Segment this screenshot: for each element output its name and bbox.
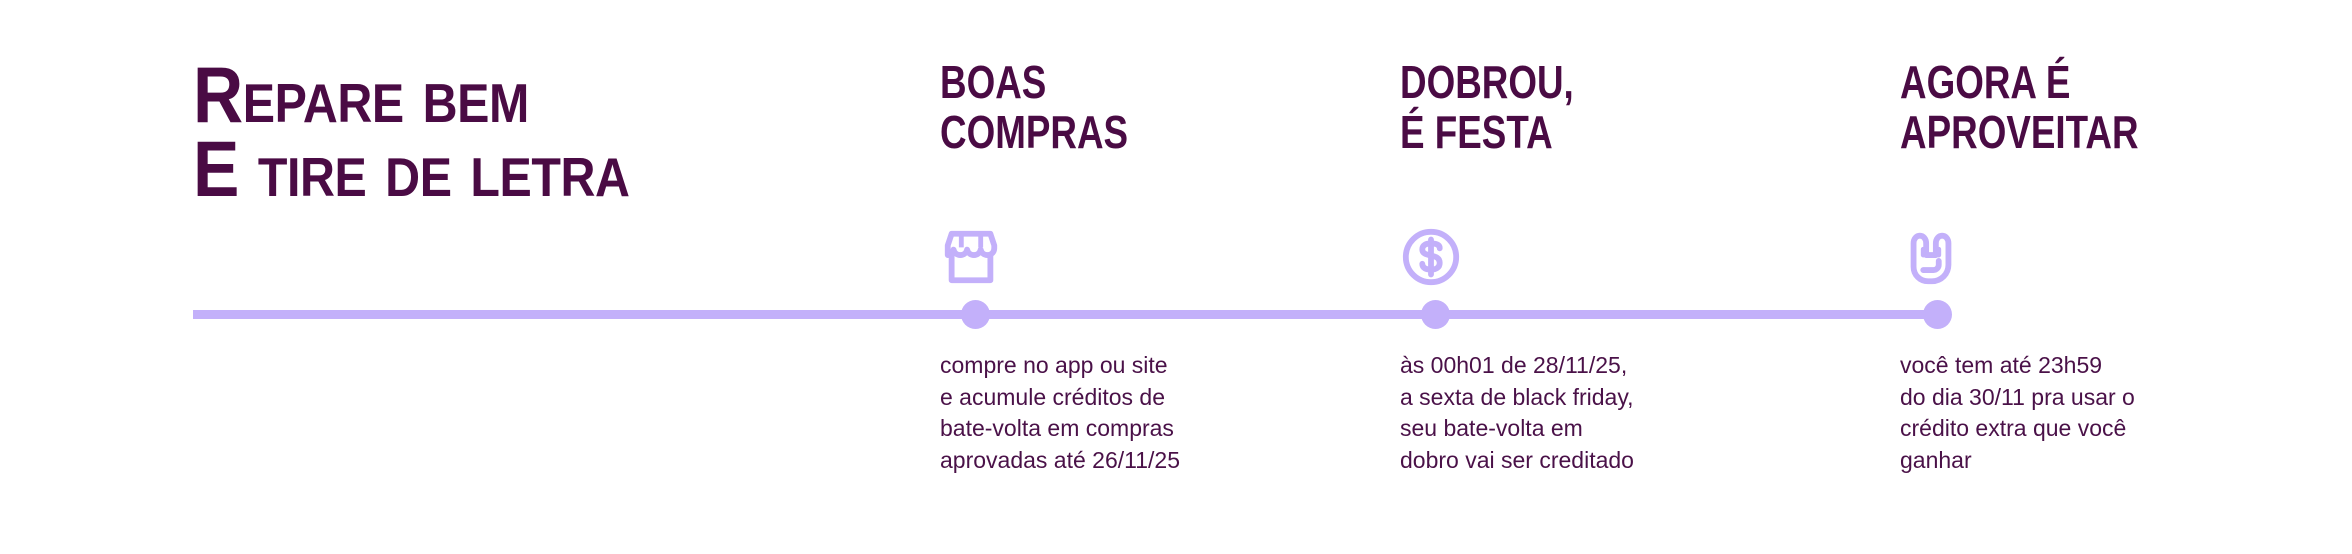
storefront-icon	[940, 226, 1002, 288]
headline-line-2: e Tire de Letra	[193, 132, 630, 206]
timeline-step-2-title: DOBROU, É FESTA	[1400, 58, 1736, 157]
timeline-step-3: AGORA É APROVEITAR	[1900, 58, 2320, 157]
timeline-dot-3	[1923, 300, 1952, 329]
rock-hand-icon	[1900, 226, 1962, 288]
timeline-step-2: DOBROU, É FESTA	[1400, 58, 1820, 157]
timeline-dot-1	[961, 300, 990, 329]
timeline-step-2-body: às 00h01 de 28/11/25, a sexta de black f…	[1400, 350, 1700, 477]
timeline-step-1: BOAS COMPRAS	[940, 58, 1360, 157]
promo-timeline-banner: Repare Bem e Tire de Letra BOAS COMPRAS …	[0, 0, 2352, 554]
timeline-step-3-body: você tem até 23h59 do dia 30/11 pra usar…	[1900, 350, 2200, 477]
timeline-step-1-title: BOAS COMPRAS	[940, 58, 1276, 157]
timeline-step-3-title: AGORA É APROVEITAR	[1900, 58, 2236, 157]
timeline-rail	[193, 310, 1938, 319]
dollar-circle-icon	[1400, 226, 1462, 288]
timeline-dot-2	[1421, 300, 1450, 329]
page-title: Repare Bem e Tire de Letra	[193, 58, 630, 207]
timeline-step-1-body: compre no app ou site e acumule créditos…	[940, 350, 1240, 477]
headline-line-1: Repare Bem	[193, 58, 630, 132]
